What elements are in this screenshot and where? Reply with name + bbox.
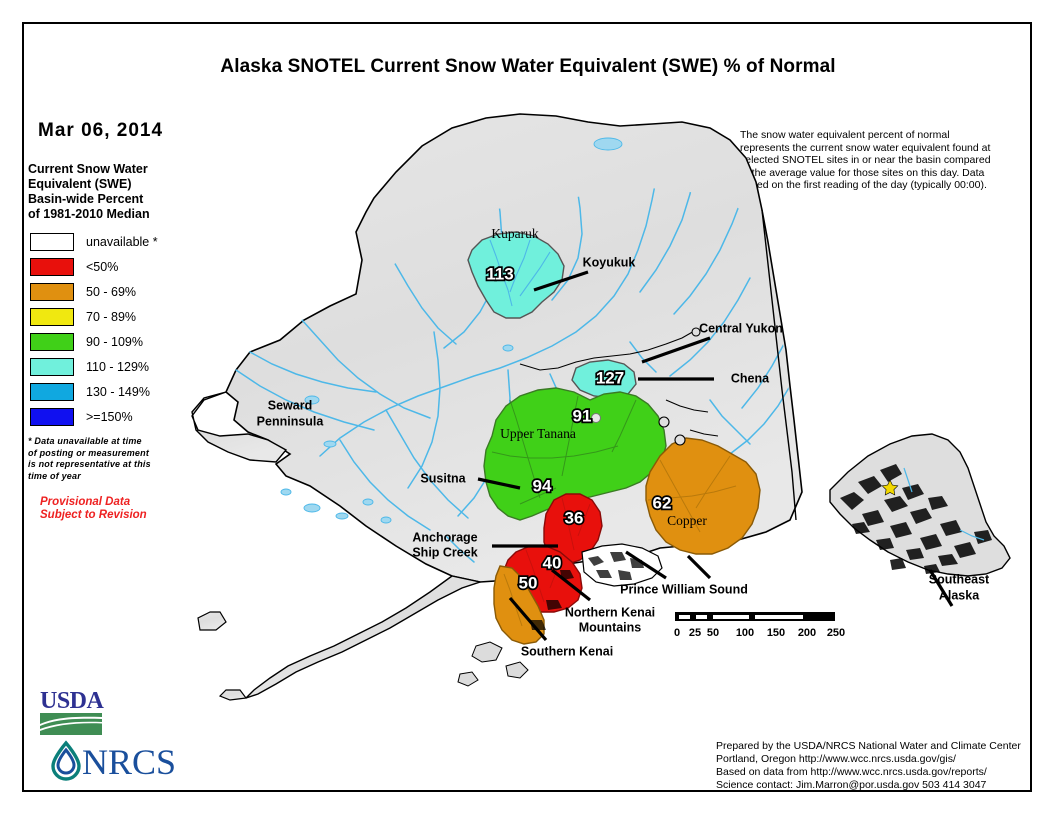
legend-items: unavailable * <50% 50 - 69% 70 - 89% 90 … [28, 230, 208, 428]
legend-label: 90 - 109% [86, 335, 143, 349]
basin-value-copper: 62 [653, 493, 672, 512]
label-alaska: Alaska [939, 588, 980, 602]
legend-label: <50% [86, 260, 118, 274]
scale-tick-200: 200 [798, 627, 816, 639]
water-drop-icon [53, 743, 79, 779]
legend-label: unavailable * [86, 235, 158, 249]
legend-label: >=150% [86, 410, 133, 424]
scale-tick-25: 25 [689, 627, 701, 639]
scale-tick-50: 50 [707, 627, 719, 639]
legend-item-under-50: <50% [28, 255, 208, 278]
legend-panel: Current Snow Water Equivalent (SWE) Basi… [28, 162, 208, 522]
legend-item-90-109: 90 - 109% [28, 330, 208, 353]
label-central-yukon: Central Yukon [699, 321, 783, 335]
southeast-alaska-panhandle [830, 434, 1010, 576]
legend-footnote: * Data unavailable at time of posting or… [28, 436, 208, 482]
basin-value-anchorage-ship-creek: 36 [565, 508, 584, 527]
legend-label: 70 - 89% [86, 310, 136, 324]
legend-swatch [30, 358, 74, 376]
label-ship-creek: Ship Creek [412, 545, 477, 559]
label-penninsula: Penninsula [257, 414, 325, 428]
scale-tick-100: 100 [736, 627, 754, 639]
alaska-peninsula [198, 576, 480, 700]
alaska-map[interactable]: Kuparuk Upper Tanana Copper Koyukuk Cent… [190, 100, 1030, 710]
scale-tick-0: 0 [674, 627, 680, 639]
basin-value-southern-kenai: 50 [519, 573, 538, 592]
map-date: Mar 06, 2014 [38, 120, 163, 142]
legend-item-150-plus: >=150% [28, 405, 208, 428]
label-prince-william-sound: Prince William Sound [620, 582, 748, 596]
page-title: Alaska SNOTEL Current Snow Water Equival… [0, 56, 1056, 78]
legend-label: 50 - 69% [86, 285, 136, 299]
legend-swatch [30, 258, 74, 276]
provisional-data-notice: Provisional Data Subject to Revision [28, 496, 208, 522]
basin-value-koyukuk: 113 [486, 264, 513, 283]
legend-title: Current Snow Water Equivalent (SWE) Basi… [28, 162, 208, 222]
legend-swatch [30, 283, 74, 301]
label-anchorage: Anchorage [412, 530, 477, 544]
label-kenai-mountains: Mountains [579, 620, 642, 634]
leader-prince-william-sound-2 [688, 556, 710, 578]
usda-landscape-icon [40, 713, 102, 735]
legend-item-110-129: 110 - 129% [28, 355, 208, 378]
legend-item-50-69: 50 - 69% [28, 280, 208, 303]
basin-value-susitna: 94 [533, 476, 552, 495]
legend-label: 110 - 129% [86, 360, 149, 374]
legend-item-130-149: 130 - 149% [28, 380, 208, 403]
basin-value-central-yukon: 91 [573, 406, 592, 425]
legend-item-70-89: 70 - 89% [28, 305, 208, 328]
scale-tick-250: 250 [827, 627, 845, 639]
label-koyukuk: Koyukuk [583, 255, 636, 269]
scale-bar: 0 25 50 100 150 200 250 [674, 612, 845, 639]
nrcs-wordmark: NRCS [82, 742, 176, 782]
label-seward: Seward [268, 398, 312, 412]
basin-value-northern-kenai-mountains: 40 [543, 553, 562, 572]
logo-svg: USDA NRCS [36, 686, 186, 786]
scale-tick-150: 150 [767, 627, 785, 639]
legend-label: 130 - 149% [86, 385, 150, 399]
usda-wordmark: USDA [40, 688, 105, 714]
basin-name-upper-tanana: Upper Tanana [500, 426, 576, 441]
footer-credits: Prepared by the USDA/NRCS National Water… [716, 740, 1036, 792]
legend-swatch [30, 308, 74, 326]
legend-item-unavailable: unavailable * [28, 230, 208, 253]
map-page: Alaska SNOTEL Current Snow Water Equival… [0, 0, 1056, 816]
basin-name-copper: Copper [667, 513, 707, 528]
legend-swatch [30, 383, 74, 401]
basin-value-chena: 127 [596, 368, 624, 387]
legend-swatch [30, 233, 74, 251]
label-southern-kenai: Southern Kenai [521, 644, 613, 658]
label-northern-kenai: Northern Kenai [565, 605, 655, 619]
label-chena: Chena [731, 371, 770, 385]
label-susitna: Susitna [420, 471, 466, 485]
usda-nrcs-logo: USDA NRCS [36, 686, 186, 786]
label-southeast: Southeast [929, 572, 990, 586]
basin-name-kuparuk: Kuparuk [491, 226, 538, 241]
legend-swatch [30, 333, 74, 351]
southern-islands [458, 642, 528, 686]
legend-swatch [30, 408, 74, 426]
